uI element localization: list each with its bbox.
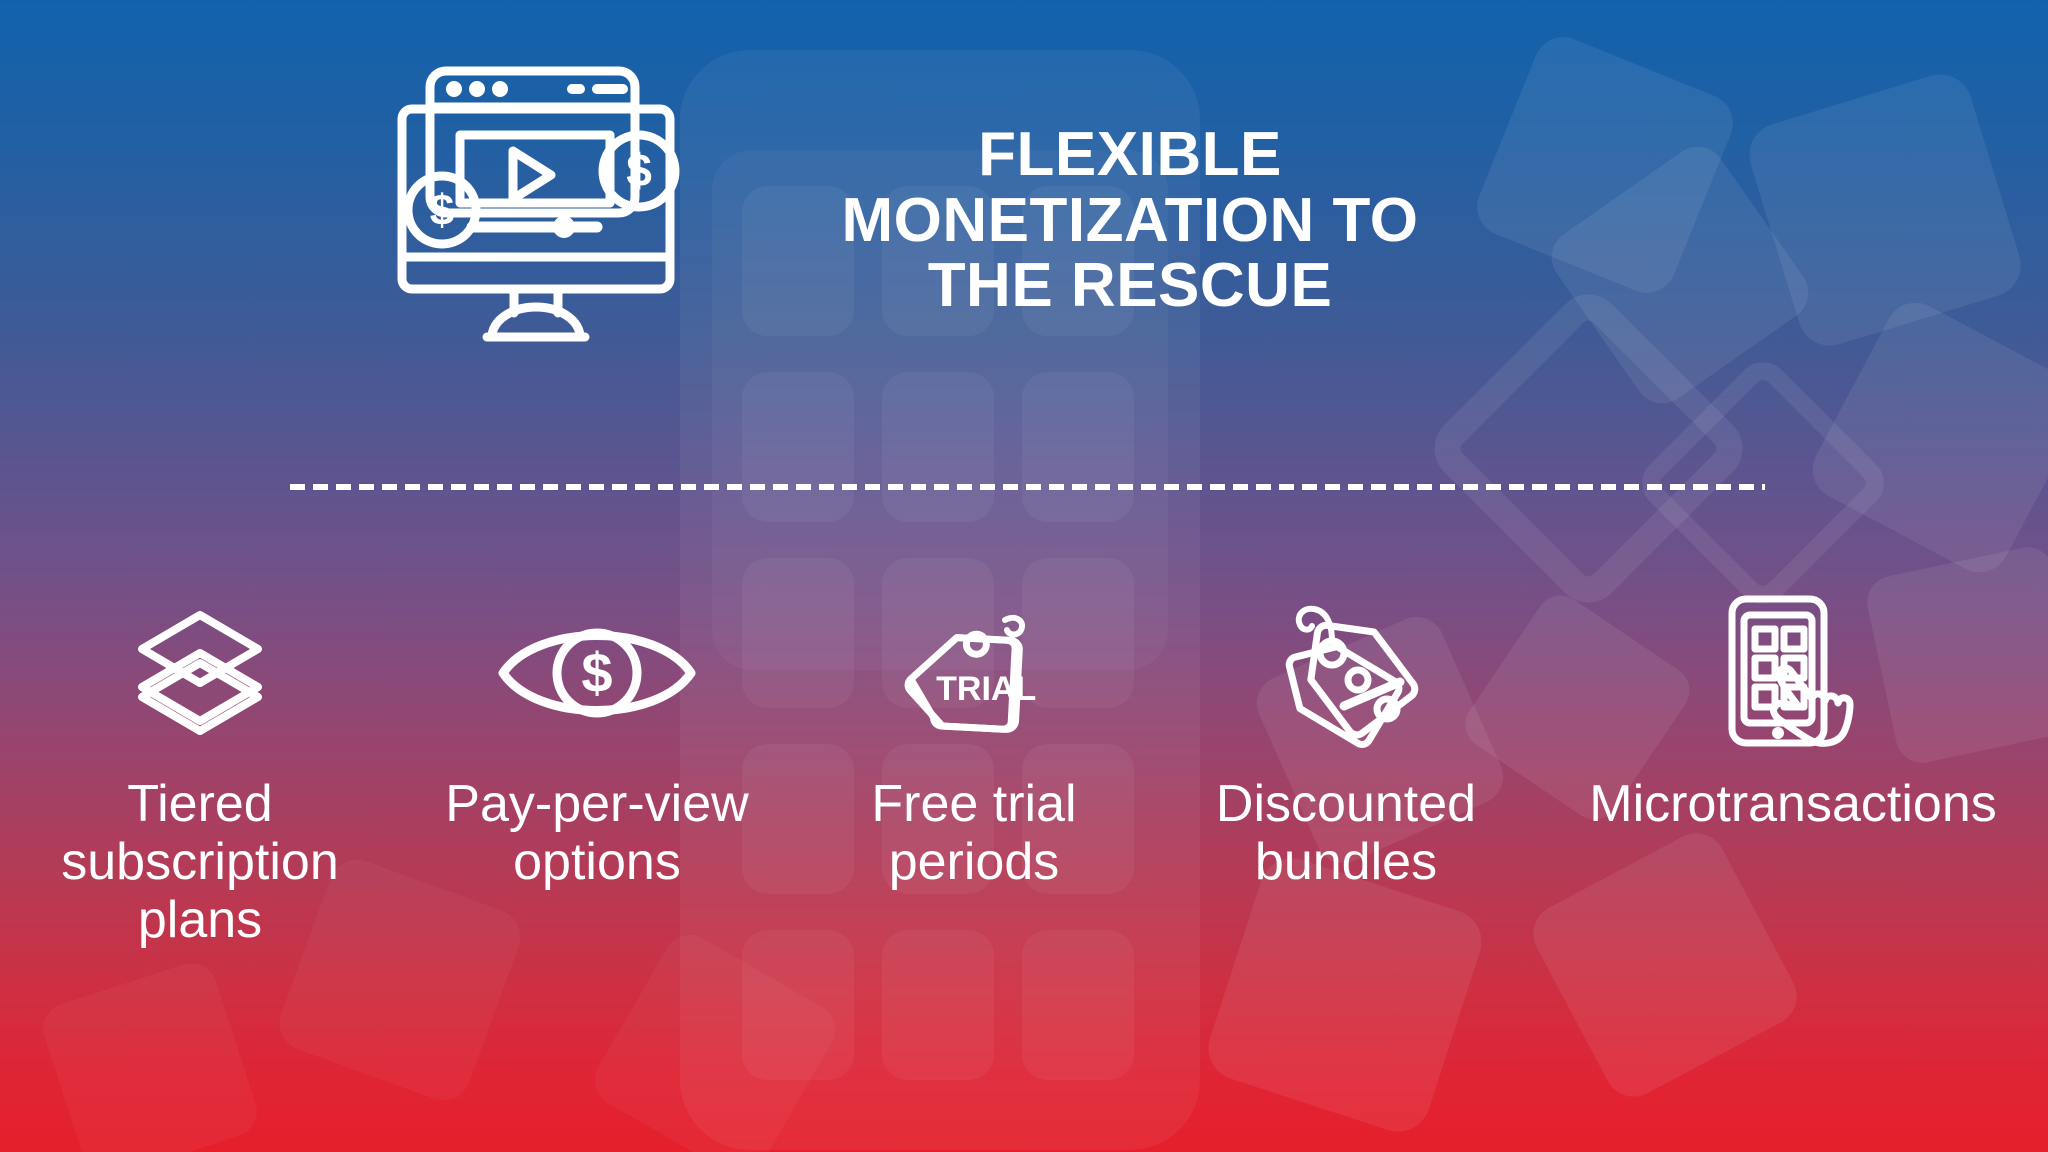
feature-item-free-trial: TRIAL Free trial periods	[804, 580, 1144, 891]
feature-item-tiered-subscription: Tiered subscription plans	[10, 580, 390, 950]
feature-row: Tiered subscription plans $ Pay-per-view…	[0, 580, 2048, 950]
svg-text:$: $	[581, 641, 612, 704]
svg-text:$: $	[626, 144, 652, 196]
smartphone-tap-icon	[1718, 580, 1868, 765]
discount-tags-percent-icon	[1266, 580, 1426, 765]
layers-stack-icon	[130, 580, 270, 765]
watermark-cell	[882, 930, 994, 1080]
trial-price-tag-icon: TRIAL	[899, 580, 1049, 765]
feature-label: Pay-per-view options	[445, 775, 748, 891]
page-title-line-1: FLEXIBLE	[840, 122, 1420, 188]
watermark-cell	[742, 930, 854, 1080]
watermark-cell	[1022, 930, 1134, 1080]
page-title-line-2: MONETIZATION TO	[840, 188, 1420, 254]
feature-label: Microtransactions	[1589, 775, 1996, 833]
page-title-line-3: THE RESCUE	[840, 253, 1420, 319]
feature-label: Discounted bundles	[1216, 775, 1476, 891]
feature-item-pay-per-view: $ Pay-per-view options	[412, 580, 782, 891]
trial-tag-text: TRIAL	[936, 670, 1036, 708]
infographic-canvas: $ $ FLEXIBLE MONETIZATION TO THE RESCUE …	[0, 0, 2048, 1152]
page-title: FLEXIBLE MONETIZATION TO THE RESCUE	[840, 122, 1420, 319]
watermark-rounded-square	[585, 925, 845, 1152]
feature-item-discounted-bundles: Discounted bundles	[1166, 580, 1526, 891]
watermark-rounded-square	[37, 957, 264, 1152]
dashed-divider	[290, 484, 1765, 490]
feature-label: Tiered subscription plans	[61, 775, 338, 950]
svg-text:$: $	[430, 186, 454, 235]
feature-item-microtransactions: Microtransactions	[1548, 580, 2038, 833]
feature-label: Free trial periods	[871, 775, 1076, 891]
monitor-video-monetization-icon: $ $	[392, 55, 702, 345]
eye-dollar-icon: $	[497, 580, 697, 765]
hero-section: $ $ FLEXIBLE MONETIZATION TO THE RESCUE	[0, 0, 2048, 470]
